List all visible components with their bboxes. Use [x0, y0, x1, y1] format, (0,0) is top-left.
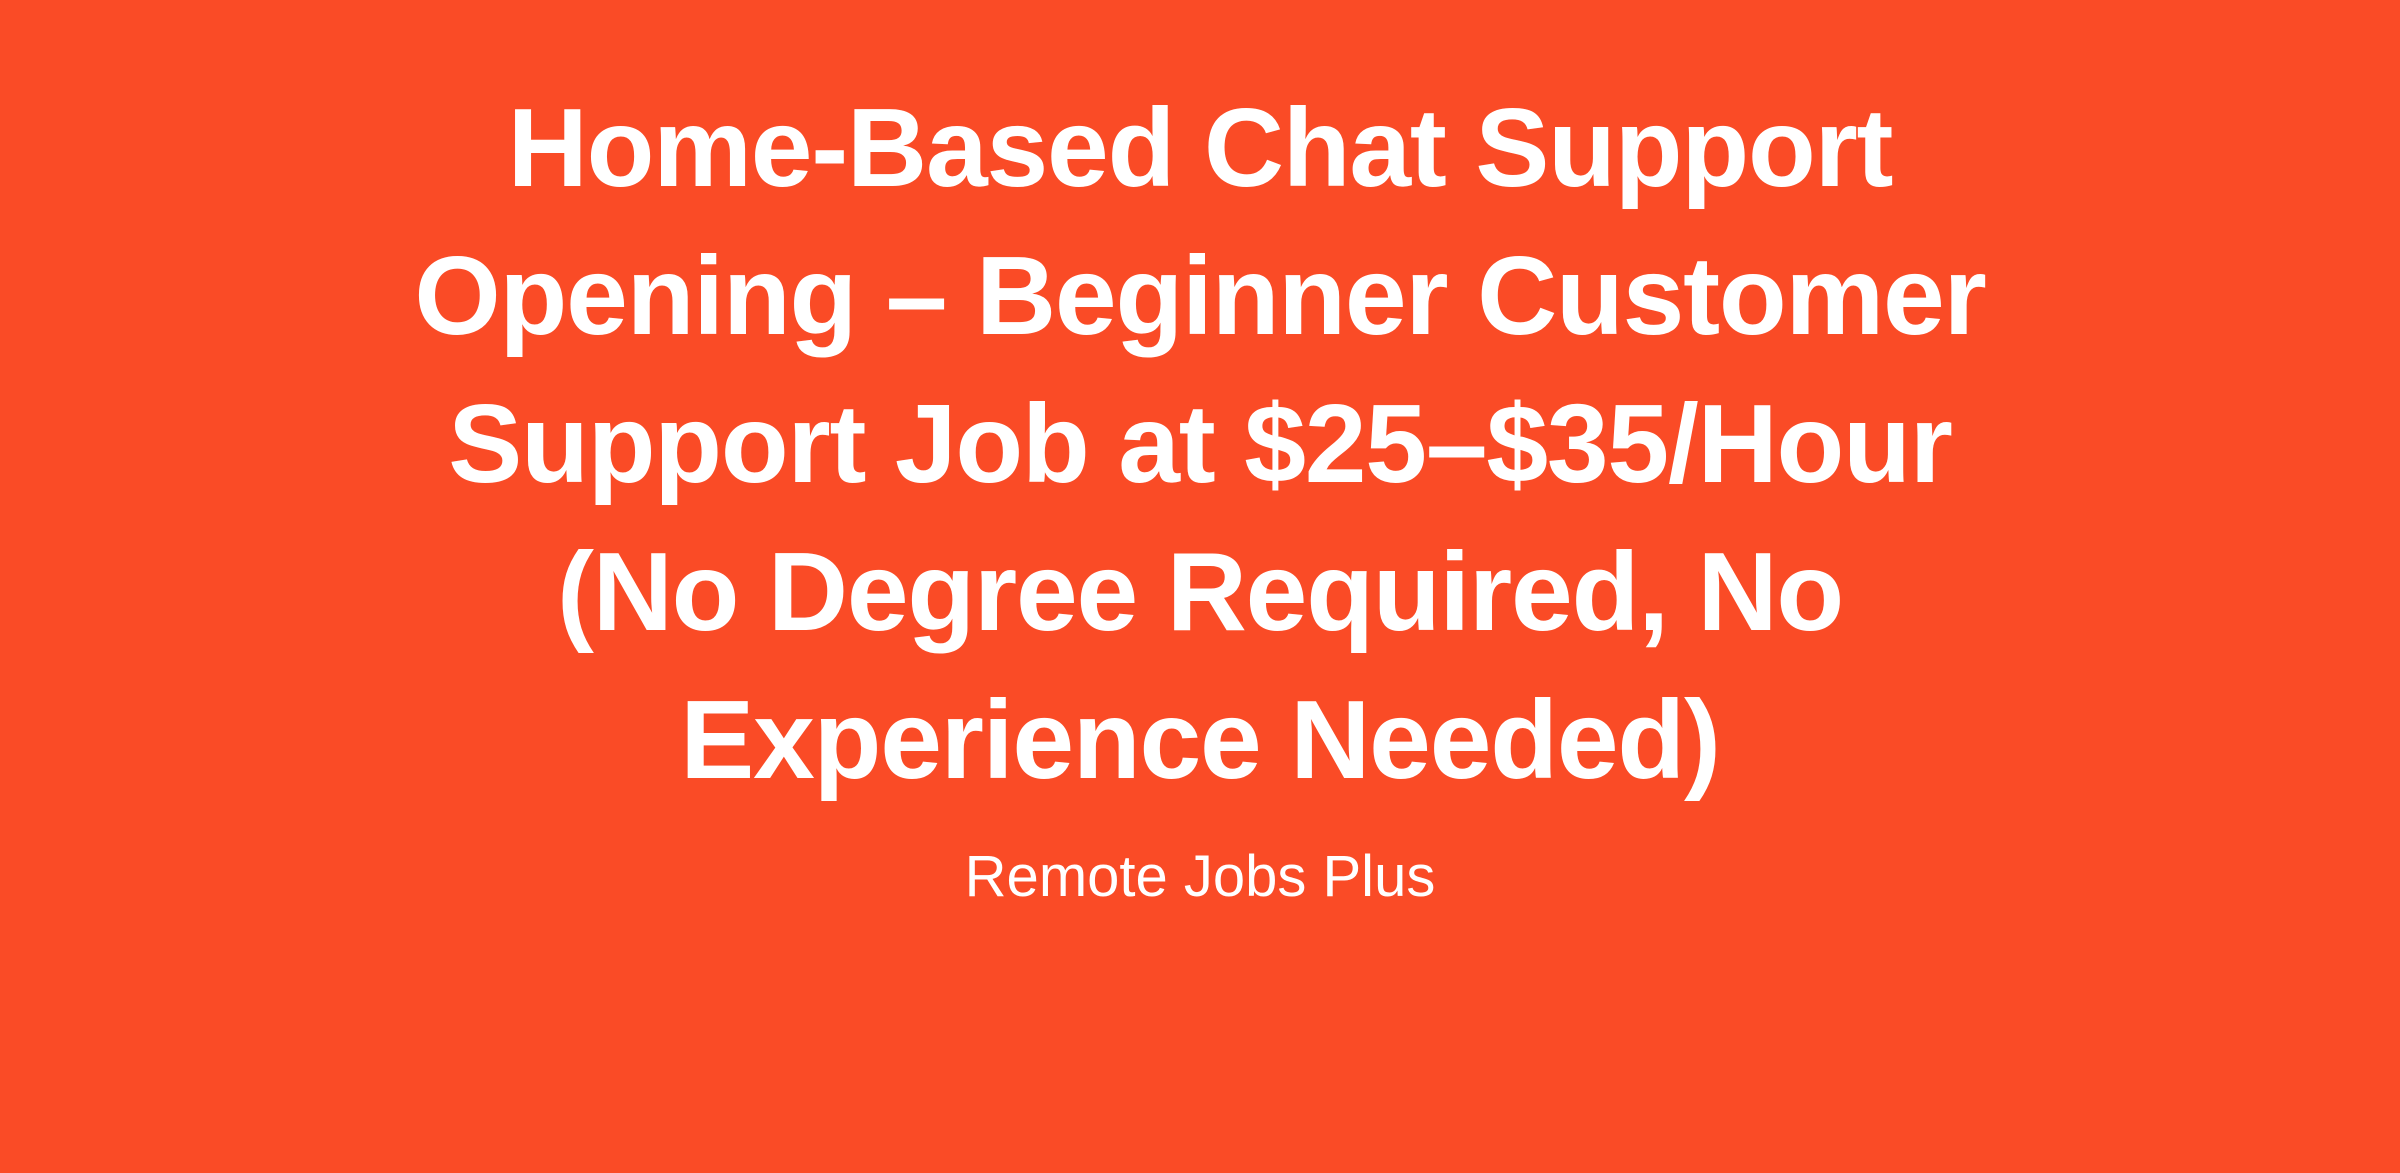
hero-content: Home-Based Chat Support Opening – Beginn…: [360, 74, 2040, 914]
job-posting-card: Home-Based Chat Support Opening – Beginn…: [0, 0, 2400, 1173]
page-title: Home-Based Chat Support Opening – Beginn…: [360, 74, 2040, 814]
site-name-label: Remote Jobs Plus: [360, 840, 2040, 914]
